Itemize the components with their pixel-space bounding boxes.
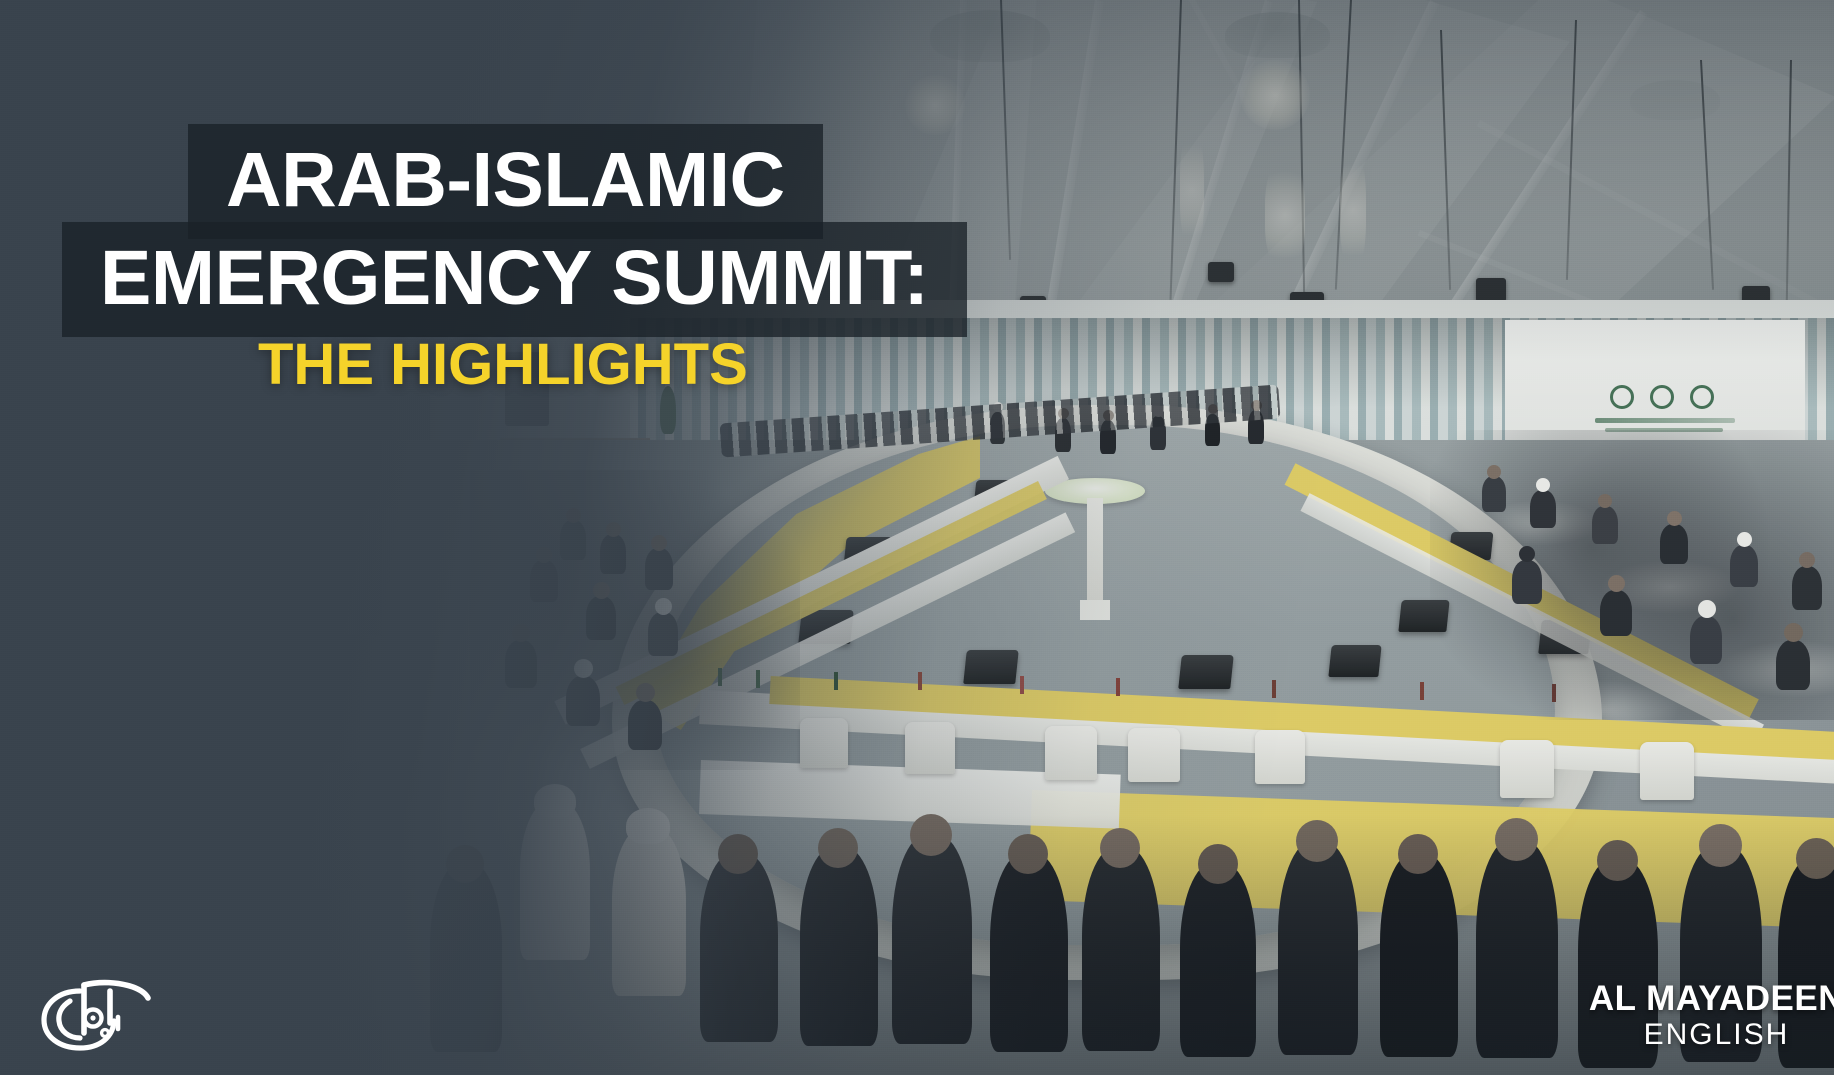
channel-edition: ENGLISH — [1589, 1016, 1834, 1054]
title-line-2: EMERGENCY SUMMIT: — [62, 222, 967, 337]
al-mayadeen-calligraphy-logo — [34, 971, 154, 1057]
video-thumbnail-frame: ARAB-ISLAMIC EMERGENCY SUMMIT: THE HIGHL… — [0, 0, 1834, 1075]
channel-name: AL MAYADEEN — [1589, 981, 1834, 1016]
channel-branding: AL MAYADEEN ENGLISH — [1589, 981, 1834, 1054]
subtitle: THE HIGHLIGHTS — [258, 336, 748, 394]
